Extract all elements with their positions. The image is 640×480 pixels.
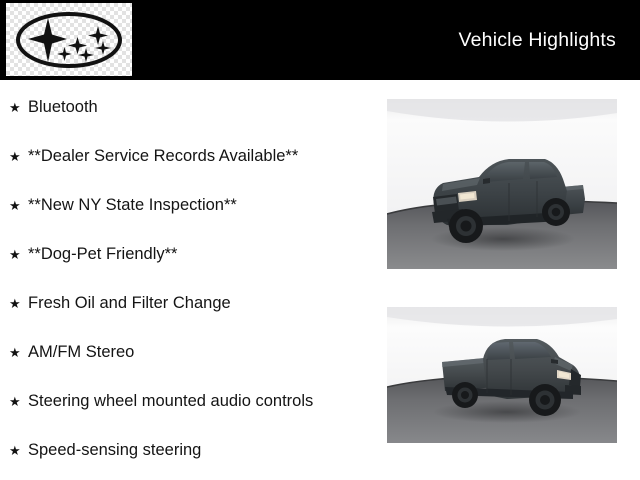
list-item: ★ Fresh Oil and Filter Change <box>9 295 231 312</box>
list-item: ★ **Dealer Service Records Available** <box>9 148 298 165</box>
star-bullet-icon: ★ <box>9 248 28 261</box>
subaru-logo-mark <box>15 11 123 69</box>
highlight-label: **New NY State Inspection** <box>28 197 237 214</box>
vehicle-highlights-list: ★ Bluetooth ★ **Dealer Service Records A… <box>0 80 386 480</box>
star-bullet-icon: ★ <box>9 199 28 212</box>
page-title: Vehicle Highlights <box>458 0 616 80</box>
star-bullet-icon: ★ <box>9 346 28 359</box>
header-bar: Vehicle Highlights <box>0 0 640 80</box>
highlight-label: **Dog-Pet Friendly** <box>28 246 177 263</box>
list-item: ★ Steering wheel mounted audio controls <box>9 393 313 410</box>
list-item: ★ **Dog-Pet Friendly** <box>9 246 177 263</box>
vehicle-photo-rear-image <box>387 307 617 443</box>
highlight-label: Bluetooth <box>28 99 98 116</box>
highlight-label: **Dealer Service Records Available** <box>28 148 298 165</box>
star-bullet-icon: ★ <box>9 297 28 310</box>
star-bullet-icon: ★ <box>9 395 28 408</box>
list-item: ★ Bluetooth <box>9 99 98 116</box>
vehicle-photo-rear[interactable] <box>387 307 617 443</box>
highlight-label: Fresh Oil and Filter Change <box>28 295 231 312</box>
star-bullet-icon: ★ <box>9 101 28 114</box>
vehicle-photo-front-image <box>387 99 617 269</box>
list-item: ★ Speed-sensing steering <box>9 442 201 459</box>
star-bullet-icon: ★ <box>9 444 28 457</box>
highlight-label: AM/FM Stereo <box>28 344 134 361</box>
list-item: ★ AM/FM Stereo <box>9 344 134 361</box>
star-bullet-icon: ★ <box>9 150 28 163</box>
vehicle-photo-front[interactable] <box>387 99 617 269</box>
highlight-label: Steering wheel mounted audio controls <box>28 393 313 410</box>
subaru-logo <box>6 3 132 76</box>
list-item: ★ **New NY State Inspection** <box>9 197 237 214</box>
highlight-label: Speed-sensing steering <box>28 442 201 459</box>
